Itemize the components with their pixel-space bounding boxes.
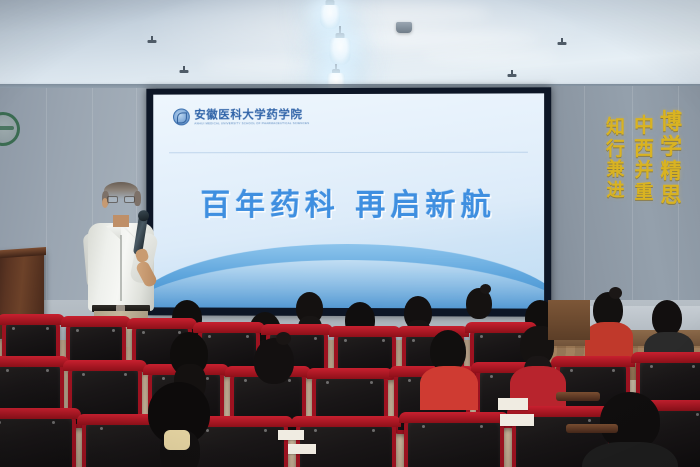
calligraphy-char: 兼: [607, 161, 625, 179]
calligraphy-char: 西: [634, 139, 654, 159]
calligraphy-char: 精: [661, 161, 682, 182]
projection-screen: 安徽医科大学药学院 ANHUI MEDICAL UNIVERSITY SCHOO…: [146, 87, 551, 316]
slide-divider: [169, 151, 529, 153]
calligraphy-char: 并: [634, 161, 653, 180]
slide-content: 安徽医科大学药学院 ANHUI MEDICAL UNIVERSITY SCHOO…: [153, 93, 544, 308]
desk-edge: [548, 300, 590, 340]
calligraphy-char: 重: [634, 183, 653, 202]
slide-headline: 百年药科 再启新航: [153, 179, 544, 223]
calligraphy-char: 行: [606, 140, 625, 159]
auditorium-seat: [0, 412, 76, 467]
slide-org-logo: 安徽医科大学药学院 ANHUI MEDICAL UNIVERSITY SCHOO…: [173, 108, 310, 125]
calligraphy-char: 进: [607, 182, 625, 200]
auditorium-seat: [404, 416, 504, 467]
calligraphy-char: 中: [634, 116, 654, 136]
auditorium-photo: 博 学 精 思 中 西 并 重 知 行 兼 进 安徽医科大学药学院 ANHUI …: [0, 0, 700, 467]
presenter-shirt-placket: [120, 235, 122, 301]
notebook: [288, 444, 316, 454]
calligraphy-char: 学: [660, 137, 682, 159]
seat-armrest: [556, 392, 600, 401]
calligraphy-column-3: 知 行 兼 进: [606, 118, 625, 199]
notebook: [278, 430, 304, 440]
calligraphy-column-2: 中 西 并 重: [634, 116, 654, 201]
hair-tie-icon: [164, 430, 190, 450]
calligraphy-char: 博: [660, 112, 682, 134]
presenter-hair-right: [134, 191, 141, 206]
notebook: [498, 398, 528, 410]
notebook: [500, 414, 534, 426]
calligraphy-column-1: 博 学 精 思: [660, 112, 682, 205]
ceiling-speaker-icon: [396, 22, 412, 33]
university-seal-icon: [173, 108, 190, 125]
slide-org-name-cn: 安徽医科大学药学院: [194, 108, 309, 120]
glasses-icon: [107, 196, 135, 203]
slide-org-name-en: ANHUI MEDICAL UNIVERSITY SCHOOL OF PHARM…: [194, 121, 309, 125]
seat-armrest: [566, 424, 618, 433]
calligraphy-char: 知: [606, 118, 625, 137]
calligraphy-char: 思: [661, 185, 682, 206]
